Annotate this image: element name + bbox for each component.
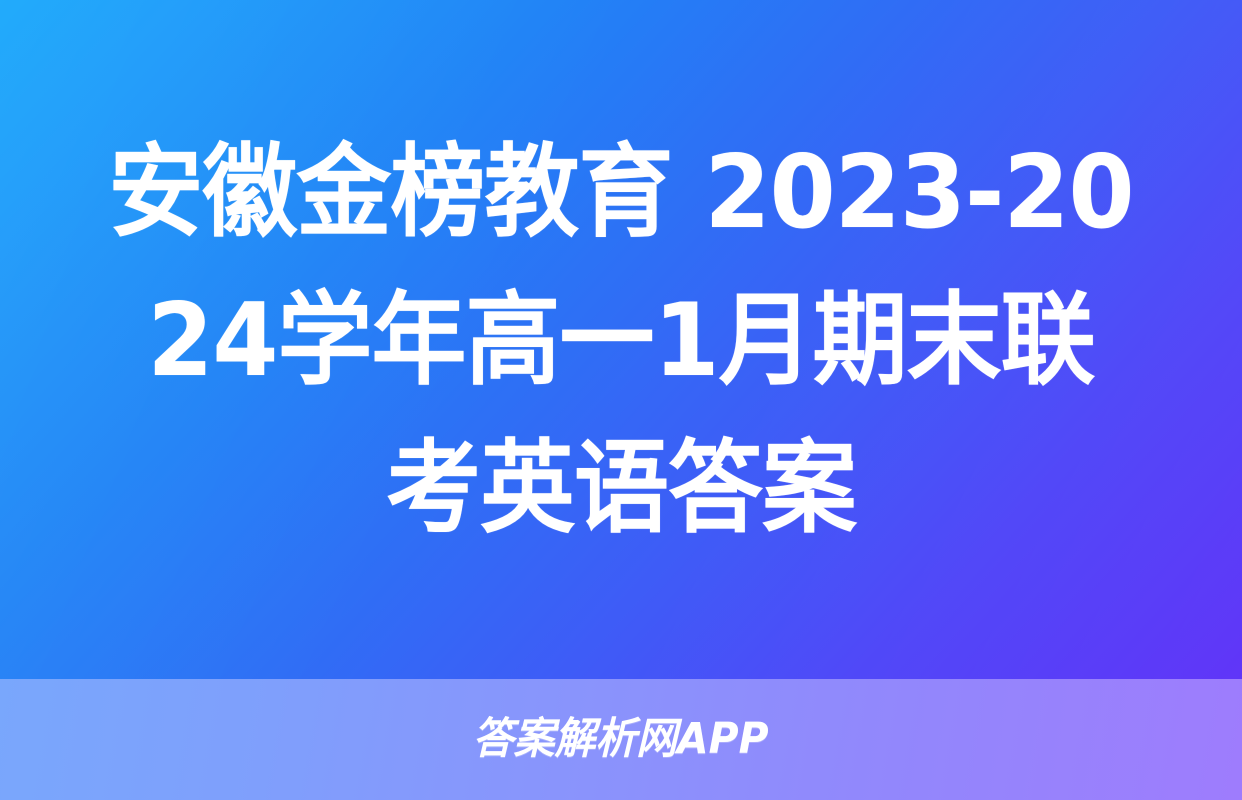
title-stage: 安徽金榜教育 2023-2024学年高一1月期末联考英语答案 — [0, 0, 1242, 679]
footer-bar: 答案解析网APP — [0, 679, 1242, 800]
brand-watermark: 答案解析网APP — [473, 718, 769, 761]
page-title: 安徽金榜教育 2023-2024学年高一1月期末联考英语答案 — [105, 118, 1137, 562]
answer-cover-card: 安徽金榜教育 2023-2024学年高一1月期末联考英语答案 答案解析网APP — [0, 0, 1242, 800]
